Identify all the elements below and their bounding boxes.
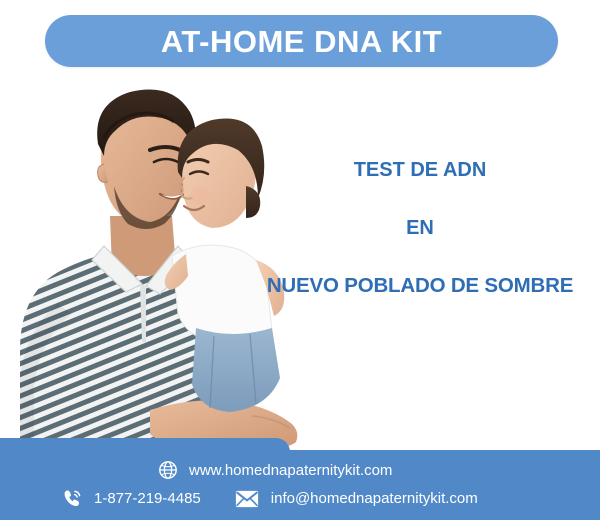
promo-card: AT-HOME DNA KIT	[0, 0, 600, 520]
title-badge: AT-HOME DNA KIT	[45, 15, 558, 67]
headline-line-2: EN	[240, 218, 600, 238]
envelope-icon	[235, 490, 259, 508]
footer-contact-rows: www.homednapaternitykit.com 1-877-219-44…	[0, 438, 600, 520]
page-title: AT-HOME DNA KIT	[161, 26, 442, 57]
website-item[interactable]: www.homednapaternitykit.com	[158, 460, 392, 480]
headline-line-1: TEST DE ADN	[240, 160, 600, 180]
footer-row-website: www.homednapaternitykit.com	[158, 460, 392, 480]
footer-bar: www.homednapaternitykit.com 1-877-219-44…	[0, 438, 600, 520]
globe-icon	[158, 460, 178, 480]
phone-icon	[62, 488, 83, 509]
footer-row-contact: 1-877-219-4485 info@homednapaternitykit.…	[62, 488, 478, 509]
website-label: www.homednapaternitykit.com	[189, 463, 392, 478]
headline-line-3: NUEVO POBLADO DE SOMBRE	[240, 276, 600, 297]
headline-block: TEST DE ADN EN NUEVO POBLADO DE SOMBRE	[240, 160, 600, 297]
phone-item[interactable]: 1-877-219-4485	[62, 488, 201, 509]
phone-label: 1-877-219-4485	[94, 491, 201, 506]
email-item[interactable]: info@homednapaternitykit.com	[235, 490, 478, 508]
email-label: info@homednapaternitykit.com	[271, 491, 478, 506]
